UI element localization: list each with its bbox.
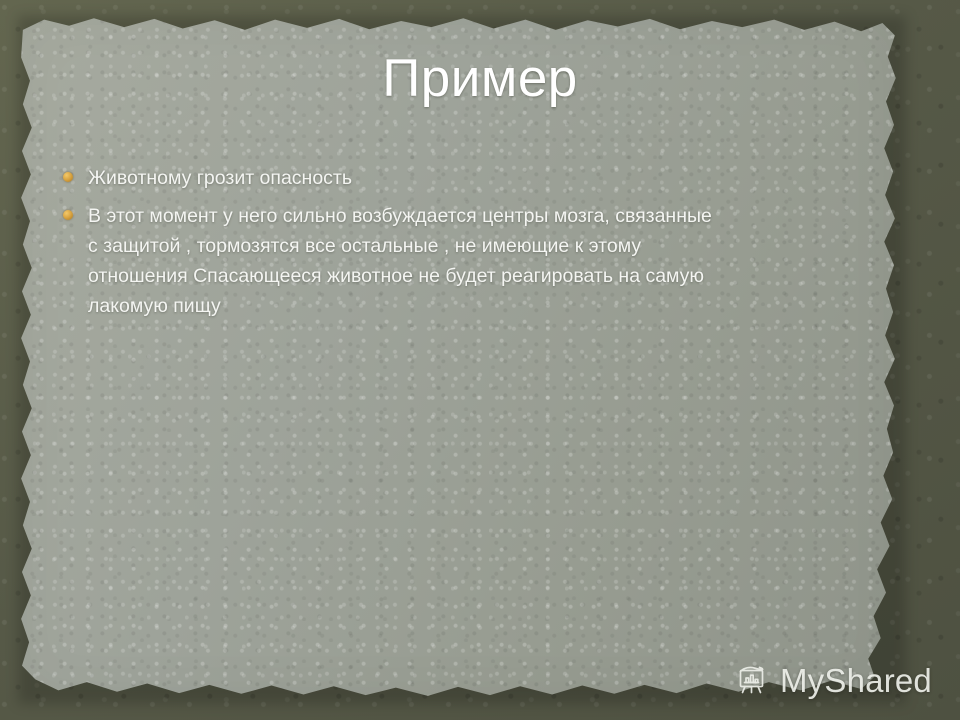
list-item-text: В этот момент у него сильно возбуждается… (88, 201, 900, 321)
list-item: Животному грозит опасность (60, 163, 900, 193)
bullet-dot-icon (63, 210, 73, 220)
presentation-slide: Пример Животному грозит опасность В этот… (0, 0, 960, 720)
presentation-chart-icon (735, 662, 771, 698)
myshared-watermark: MyShared (735, 662, 932, 698)
page-title: Пример (0, 48, 960, 109)
bullet-dot-icon (63, 172, 73, 182)
watermark-label: MyShared (780, 664, 932, 697)
bullet-list: Животному грозит опасность В этот момент… (60, 163, 900, 329)
slide-content: Пример Животному грозит опасность В этот… (0, 0, 960, 720)
list-item-text: Животному грозит опасность (88, 163, 900, 193)
list-item: В этот момент у него сильно возбуждается… (60, 201, 900, 321)
